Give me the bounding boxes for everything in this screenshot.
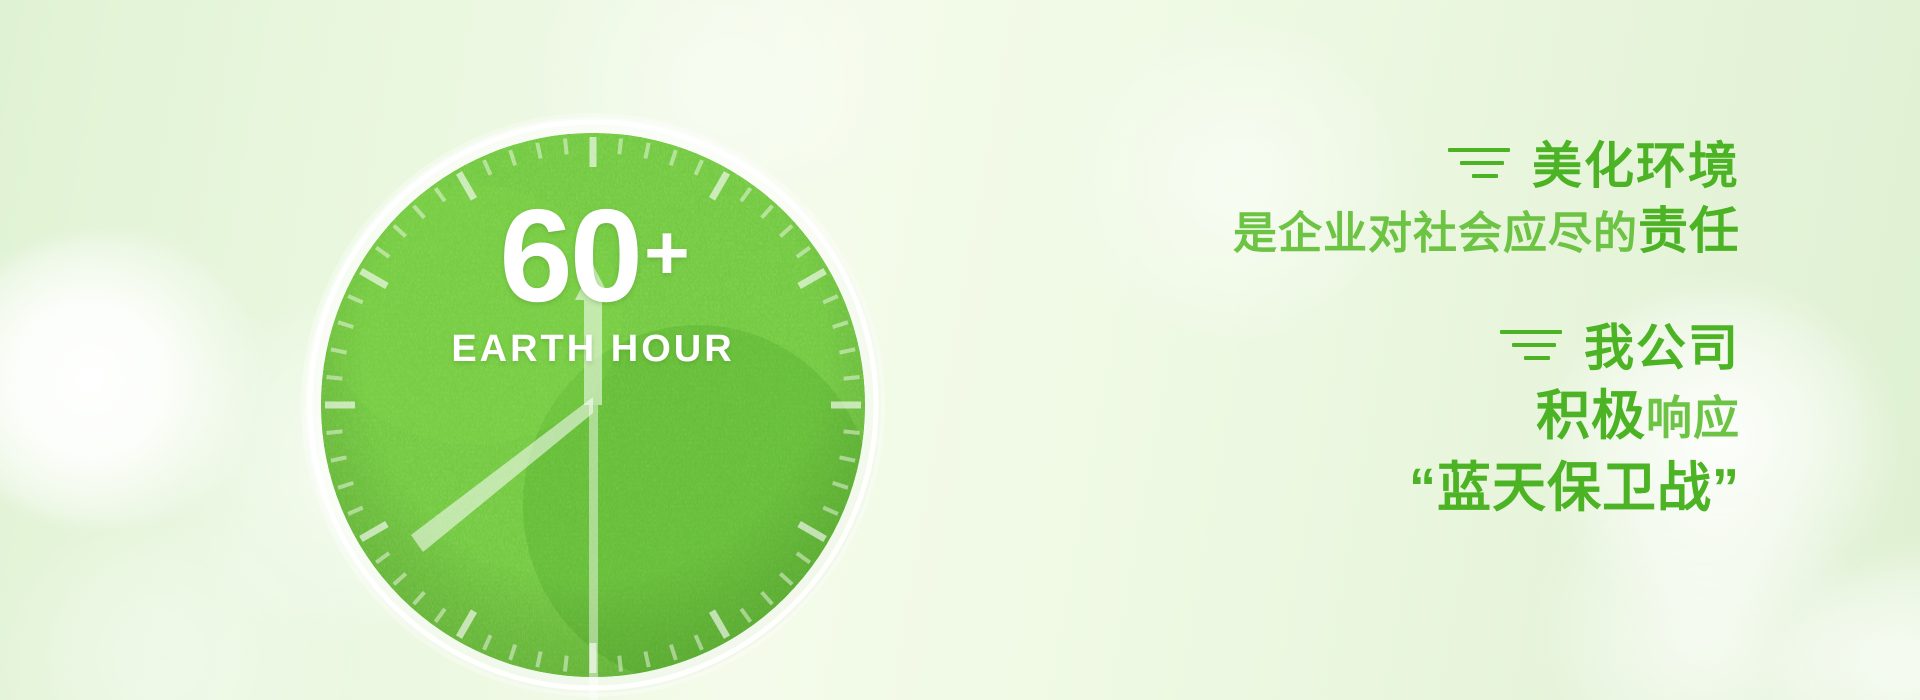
dash-line bbox=[1472, 174, 1498, 178]
bokeh-blob bbox=[0, 235, 270, 525]
slogan-headline-1: 美化环境 bbox=[1532, 140, 1740, 193]
slogan-line-2-normal: 响应 bbox=[1646, 392, 1740, 444]
clock-tick bbox=[619, 138, 621, 154]
slogan-line-3: “蓝天保卫战” bbox=[1010, 457, 1740, 519]
slogan-headline-row-1: 美化环境 bbox=[1010, 140, 1740, 193]
earth-hour-clock: 60+ EARTH HOUR bbox=[293, 105, 893, 700]
bokeh-blob bbox=[1780, 560, 1920, 700]
clock-tick bbox=[565, 138, 567, 154]
dash-line bbox=[1460, 161, 1504, 165]
three-dash-icon bbox=[1448, 148, 1510, 178]
clock-tick bbox=[844, 431, 860, 433]
dash-line bbox=[1524, 356, 1550, 360]
slogan-block-1: 美化环境 是企业对社会应尽的责任 bbox=[1010, 140, 1890, 260]
slogan-subline-1-normal: 是企业对社会应尽的 bbox=[1233, 209, 1638, 258]
slogan-subline-1-emphasis: 责任 bbox=[1638, 203, 1740, 259]
slogan-line-2: 积极响应 bbox=[1010, 385, 1740, 447]
dash-line bbox=[1500, 330, 1562, 334]
clock-tick bbox=[326, 431, 342, 433]
earth-hour-banner: 60+ EARTH HOUR 美化环境 是企业对社会应尽的责任 bbox=[0, 0, 1920, 700]
dash-line bbox=[1512, 343, 1556, 347]
slogan-line-2-emphasis: 积极 bbox=[1536, 386, 1646, 446]
slogan-headline-2: 我公司 bbox=[1584, 322, 1740, 375]
clock-tick bbox=[844, 377, 860, 379]
clock-tick bbox=[619, 656, 621, 672]
dash-line bbox=[1448, 148, 1510, 152]
clock-graphic bbox=[293, 105, 893, 700]
clock-tick bbox=[326, 377, 342, 379]
slogan-subline-1: 是企业对社会应尽的责任 bbox=[1010, 203, 1740, 261]
slogan-area: 美化环境 是企业对社会应尽的责任 我公司 积极响应 “蓝天保卫战” bbox=[1010, 140, 1890, 519]
three-dash-icon bbox=[1500, 330, 1562, 360]
slogan-headline-row-2: 我公司 bbox=[1010, 322, 1740, 375]
clock-tick bbox=[565, 656, 567, 672]
slogan-block-2: 我公司 积极响应 “蓝天保卫战” bbox=[1010, 322, 1890, 519]
